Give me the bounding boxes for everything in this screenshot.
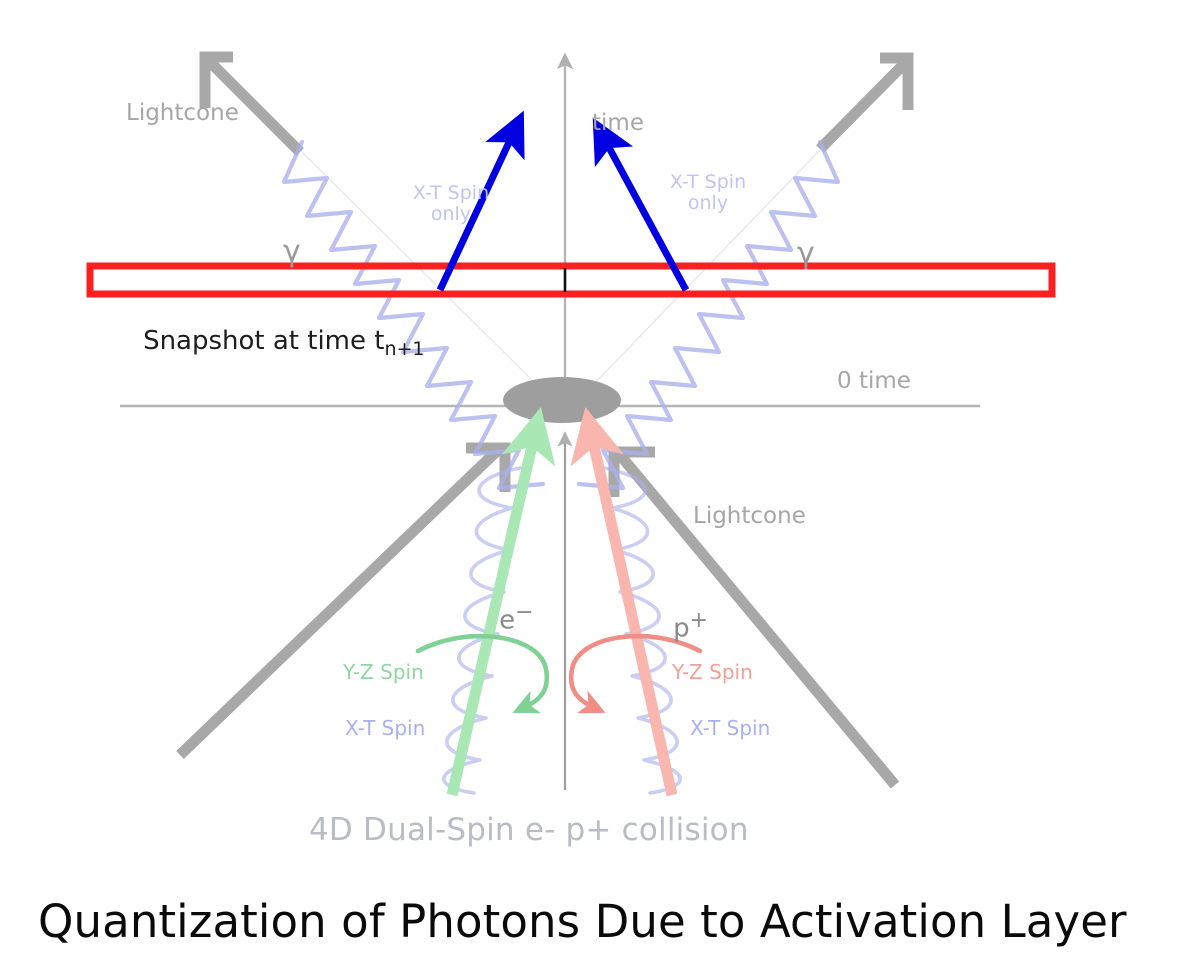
photon-left-spin-note: X-T Spin only <box>395 183 507 225</box>
proton-xt-spin-label: X-T Spin <box>690 716 770 740</box>
electron-charge: − <box>515 600 533 625</box>
snapshot-band <box>90 266 1052 294</box>
electron-xt-spin-label: X-T Spin <box>345 716 425 740</box>
proton-yz-spin-label: Y-Z Spin <box>672 660 753 684</box>
figure-title: Quantization of Photons Due to Activatio… <box>38 895 1127 948</box>
snapshot-caption-text: Snapshot at time t <box>143 326 384 356</box>
lightcone-label-lower-right: Lightcone <box>693 503 806 529</box>
snapshot-caption-subscript: n+1 <box>384 338 424 360</box>
photon-left-gamma-symbol: γ <box>283 234 301 269</box>
proton-symbol-base: p <box>673 614 690 644</box>
photon-right-gamma-symbol: γ <box>797 236 815 271</box>
lightcone-arrow-lower-left <box>180 448 500 755</box>
collision-vertex-ellipse <box>503 377 621 423</box>
electron-symbol: e− <box>466 570 534 666</box>
proton-charge: + <box>690 608 708 633</box>
lightcone-arrow-upper-right <box>820 63 905 149</box>
snapshot-caption: Snapshot at time tn+1 <box>110 296 425 390</box>
figure-canvas: Lightcone Lightcone time 0 time X-T Spin… <box>0 0 1200 972</box>
photon-right-spin-note: X-T Spin only <box>652 172 764 214</box>
electron-yz-spin-label: Y-Z Spin <box>343 660 424 684</box>
electron-symbol-base: e <box>499 606 515 636</box>
zero-time-label: 0 time <box>837 368 911 394</box>
figure-subtitle: 4D Dual-Spin e- p+ collision <box>309 812 749 848</box>
time-axis-label: time <box>592 110 644 136</box>
lightcone-label-upper-left: Lightcone <box>126 100 239 126</box>
axes-group <box>120 62 980 790</box>
